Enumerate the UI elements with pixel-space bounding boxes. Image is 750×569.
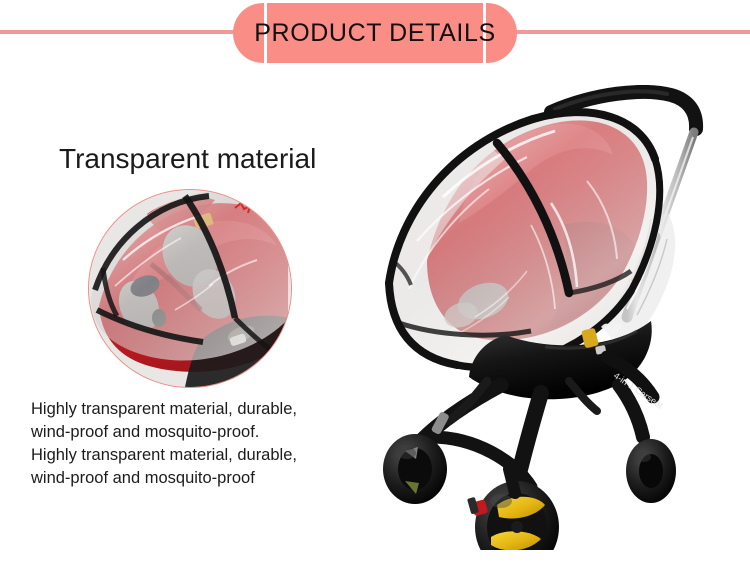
feature-description-line: wind-proof and mosquito-proof [31,467,361,490]
banner-rule-left [0,30,248,34]
feature-description-line: Highly transparent material, durable, [31,444,361,467]
stroller-illustration: 4-in-1 Carseat [355,85,750,550]
feature-description-line: Highly transparent material, durable, [31,398,361,421]
feature-heading: Transparent material [59,143,316,175]
product-details-page: PRODUCT DETAILS Transparent material [0,0,750,569]
banner-title: PRODUCT DETAILS [254,19,495,48]
wheel-rear-left [383,434,447,504]
banner-plate: PRODUCT DETAILS [267,3,483,63]
wheel-rear-right [626,439,676,503]
feature-description: Highly transparent material, durable, wi… [31,398,361,490]
hero-product-photo: 4-in-1 Carseat [355,85,750,550]
feature-description-line: wind-proof and mosquito-proof. [31,421,361,444]
banner-rule-right [502,30,750,34]
closeup-carseat-illustration [89,190,291,387]
section-banner: PRODUCT DETAILS [0,0,750,72]
closeup-inset-circle [88,189,292,388]
